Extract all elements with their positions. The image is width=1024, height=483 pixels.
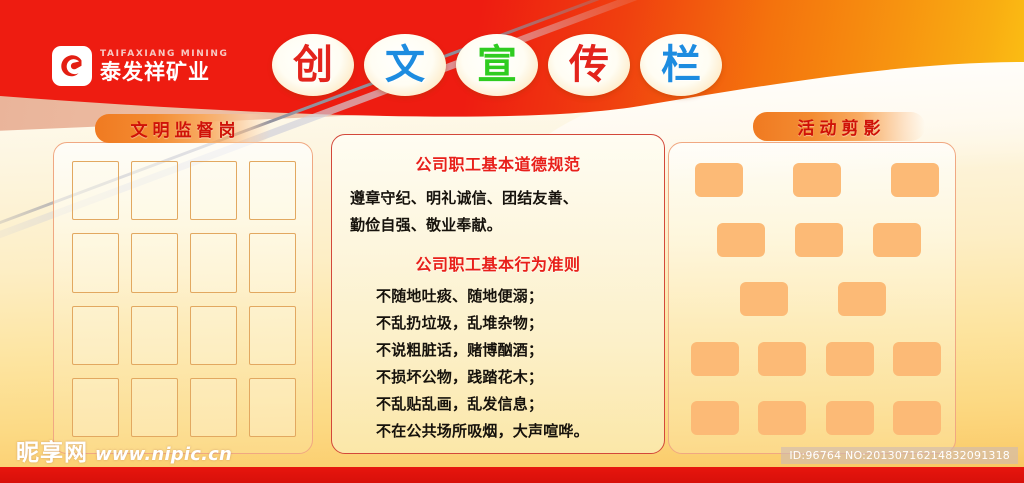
logo-english-name: TAIFAXIANG MINING — [100, 48, 228, 60]
site-watermark-url: www.nipic.cn — [95, 444, 232, 465]
title-char-3: 宣 — [477, 45, 517, 85]
title-oval-5: 栏 — [640, 34, 722, 96]
title-char-4: 传 — [569, 45, 609, 85]
conduct-rules-body: 不随地吐痰、随地便溺； 不乱扔垃圾，乱堆杂物； 不说粗脏话，赌博酗酒； 不损坏公… — [346, 283, 650, 445]
activity-photo-row — [683, 282, 943, 316]
conduct-rule-line: 不乱扔垃圾，乱堆杂物； — [346, 310, 650, 337]
photo-slot[interactable] — [190, 161, 237, 220]
photo-slot[interactable] — [131, 233, 178, 292]
conduct-rule-line: 不说粗脏话，赌博酗酒； — [346, 337, 650, 364]
activity-photo-tile[interactable] — [793, 163, 841, 197]
moral-code-heading: 公司职工基本道德规范 — [346, 151, 650, 175]
poster-canvas: TAIFAXIANG MINING 泰发祥矿业 创 文 宣 传 栏 文明监督岗 … — [0, 0, 1024, 483]
conduct-rules-heading: 公司职工基本行为准则 — [346, 251, 650, 275]
asset-id-watermark: ID:96764 NO:20130716214832091318 — [781, 447, 1018, 464]
photo-slot[interactable] — [190, 378, 237, 437]
activity-photo-tile[interactable] — [695, 163, 743, 197]
photo-slot-grid — [72, 161, 296, 437]
left-photo-board — [53, 142, 313, 454]
activity-photo-tile[interactable] — [893, 401, 941, 435]
activity-photo-tile[interactable] — [691, 401, 739, 435]
right-photo-board — [668, 142, 956, 454]
activity-photo-tile[interactable] — [873, 223, 921, 257]
activity-photo-row — [683, 163, 943, 197]
title-oval-4: 传 — [548, 34, 630, 96]
activity-photo-tile[interactable] — [826, 401, 874, 435]
photo-slot[interactable] — [72, 306, 119, 365]
logo-chinese-name: 泰发祥矿业 — [100, 60, 228, 84]
activity-photo-row — [683, 401, 943, 435]
moral-code-body: 遵章守纪、明礼诚信、团结友善、 勤俭自强、敬业奉献。 — [346, 185, 650, 239]
activity-photo-tile[interactable] — [717, 223, 765, 257]
conduct-rule-line: 不乱贴乱画，乱发信息； — [346, 391, 650, 418]
title-oval-1: 创 — [272, 34, 354, 96]
photo-slot[interactable] — [249, 306, 296, 365]
activity-photo-tile[interactable] — [826, 342, 874, 376]
photo-slot[interactable] — [131, 306, 178, 365]
photo-slot[interactable] — [190, 233, 237, 292]
center-text-board: 公司职工基本道德规范 遵章守纪、明礼诚信、团结友善、 勤俭自强、敬业奉献。 公司… — [331, 134, 665, 454]
activity-photo-rows — [683, 163, 943, 435]
left-section-heading: 文明监督岗 — [95, 114, 271, 143]
site-watermark: 昵享网 www.nipic.cn — [16, 441, 232, 465]
photo-slot[interactable] — [72, 161, 119, 220]
moral-code-line: 遵章守纪、明礼诚信、团结友善、 — [346, 185, 650, 212]
moral-code-line: 勤俭自强、敬业奉献。 — [346, 212, 650, 239]
photo-slot[interactable] — [131, 161, 178, 220]
photo-slot[interactable] — [131, 378, 178, 437]
photo-slot[interactable] — [72, 233, 119, 292]
right-section-heading-label: 活动剪影 — [793, 114, 886, 139]
site-watermark-cn: 昵享网 — [16, 441, 88, 465]
title-char-2: 文 — [385, 45, 425, 85]
activity-photo-tile[interactable] — [758, 401, 806, 435]
taifaxiang-swirl-icon — [52, 46, 92, 86]
photo-slot[interactable] — [72, 378, 119, 437]
activity-photo-row — [683, 223, 943, 257]
conduct-rule-line: 不随地吐痰、随地便溺； — [346, 283, 650, 310]
activity-photo-tile[interactable] — [691, 342, 739, 376]
activity-photo-tile[interactable] — [891, 163, 939, 197]
activity-photo-tile[interactable] — [758, 342, 806, 376]
conduct-rule-line: 不在公共场所吸烟，大声喧哗。 — [346, 418, 650, 445]
title-oval-3: 宣 — [456, 34, 538, 96]
photo-slot[interactable] — [190, 306, 237, 365]
photo-slot[interactable] — [249, 233, 296, 292]
logo-wordmark: TAIFAXIANG MINING 泰发祥矿业 — [100, 48, 228, 84]
activity-photo-tile[interactable] — [740, 282, 788, 316]
title-oval-2: 文 — [364, 34, 446, 96]
photo-slot[interactable] — [249, 161, 296, 220]
activity-photo-tile[interactable] — [893, 342, 941, 376]
left-section-heading-label: 文明监督岗 — [126, 116, 241, 141]
activity-photo-tile[interactable] — [838, 282, 886, 316]
right-section-heading: 活动剪影 — [753, 112, 925, 141]
activity-photo-row — [683, 342, 943, 376]
title-char-1: 创 — [293, 45, 333, 85]
photo-slot[interactable] — [249, 378, 296, 437]
company-logo: TAIFAXIANG MINING 泰发祥矿业 — [52, 46, 228, 86]
bottom-red-bar — [0, 467, 1024, 483]
poster-title: 创 文 宣 传 栏 — [272, 34, 722, 96]
activity-photo-tile[interactable] — [795, 223, 843, 257]
conduct-rule-line: 不损坏公物，践踏花木； — [346, 364, 650, 391]
title-char-5: 栏 — [661, 45, 701, 85]
